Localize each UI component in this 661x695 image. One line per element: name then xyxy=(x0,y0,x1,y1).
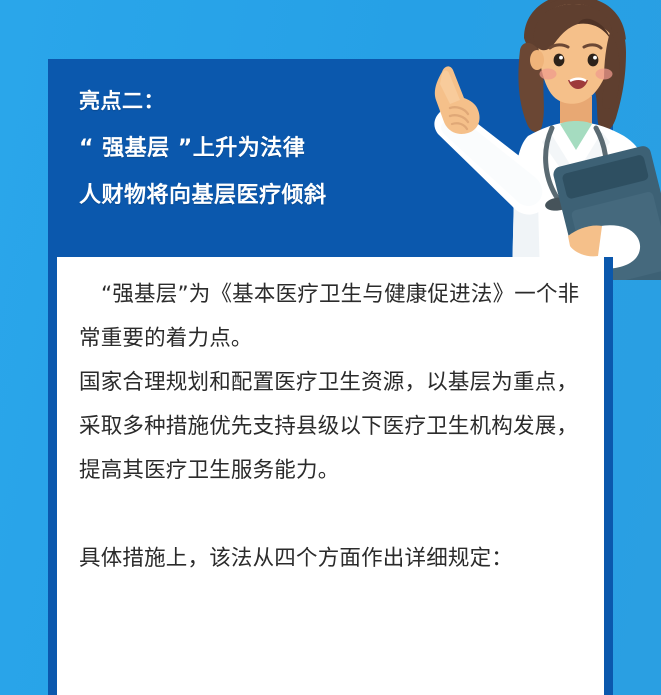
header-line-2: “ 强基层 ”上升为法律 xyxy=(79,125,479,172)
body-paragraph-2: 国家合理规划和配置医疗卫生资源，以基层为重点，采取多种措施优先支持县级以下医疗卫… xyxy=(79,361,590,493)
body-text-block: “强基层”为《基本医疗卫生与健康促进法》一个非常重要的着力点。 国家合理规划和配… xyxy=(79,273,590,581)
header-line-1: 亮点二： xyxy=(79,78,479,125)
paragraph-spacer xyxy=(79,493,590,537)
body-card: “强基层”为《基本医疗卫生与健康促进法》一个非常重要的着力点。 国家合理规划和配… xyxy=(48,257,613,695)
body-paragraph-1: “强基层”为《基本医疗卫生与健康促进法》一个非常重要的着力点。 xyxy=(79,273,590,361)
poster-root: 亮点二： “ 强基层 ”上升为法律 人财物将向基层医疗倾斜 xyxy=(0,0,661,695)
header-line-3: 人财物将向基层医疗倾斜 xyxy=(79,172,479,219)
body-paragraph-3: 具体措施上，该法从四个方面作出详细规定： xyxy=(79,537,590,581)
header-title-block: 亮点二： “ 强基层 ”上升为法律 人财物将向基层医疗倾斜 xyxy=(79,78,479,219)
